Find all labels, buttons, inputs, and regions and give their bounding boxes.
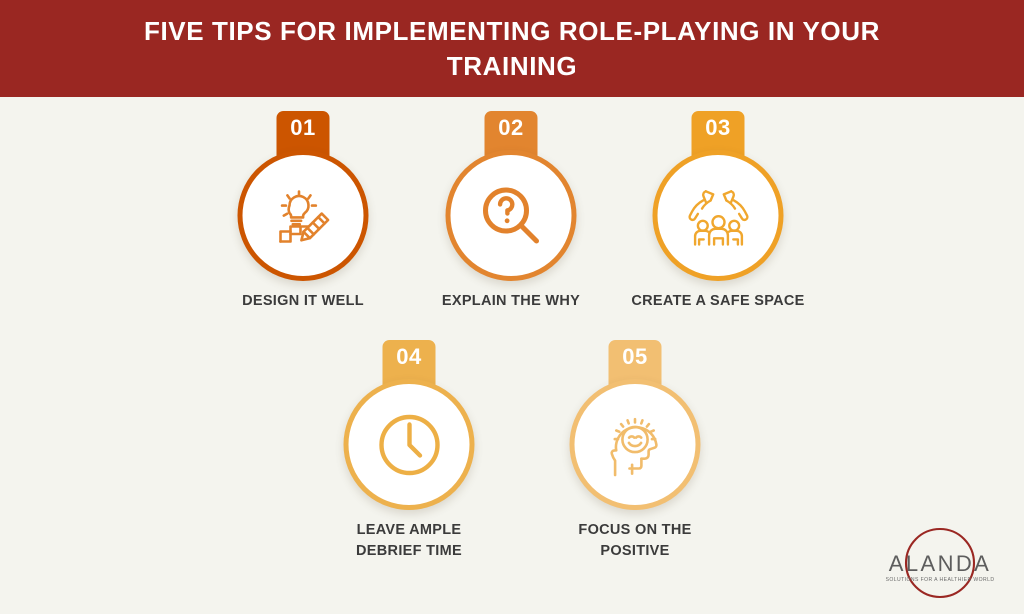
hands-protecting-people-icon	[681, 179, 755, 253]
page-title: FIVE TIPS FOR IMPLEMENTING ROLE-PLAYING …	[120, 14, 904, 83]
alanda-logo: ALANDA SOLUTIONS FOR A HEALTHIER WORLD	[884, 520, 996, 606]
tip-caption-01: DESIGN IT WELL	[242, 291, 364, 312]
tip-card-05[interactable]: 05	[535, 340, 735, 561]
badge-wrap-01: 01	[231, 111, 376, 281]
tip-caption-04: LEAVE AMPLE DEBRIEF TIME	[356, 520, 462, 561]
page-header: FIVE TIPS FOR IMPLEMENTING ROLE-PLAYING …	[0, 0, 1024, 97]
head-smiley-icon	[598, 408, 672, 482]
badge-wrap-03: 03	[646, 111, 791, 281]
tip-card-01[interactable]: 01	[203, 111, 403, 312]
icon-circle-01[interactable]	[238, 150, 369, 281]
badge-wrap-05: 05	[563, 340, 708, 510]
clock-icon	[372, 408, 446, 482]
icon-circle-05[interactable]	[570, 379, 701, 510]
icon-circle-02[interactable]	[446, 150, 577, 281]
tips-canvas: 01	[0, 97, 1024, 614]
tip-caption-02: EXPLAIN THE WHY	[442, 291, 580, 312]
tip-card-03[interactable]: 03	[618, 111, 818, 312]
tip-card-04[interactable]: 04 LEAVE AMPLE DEBRIEF TIME	[309, 340, 509, 561]
icon-circle-04[interactable]	[344, 379, 475, 510]
tip-caption-03: CREATE A SAFE SPACE	[631, 291, 804, 312]
logo-tagline: SOLUTIONS FOR A HEALTHIER WORLD	[886, 577, 995, 583]
icon-circle-03[interactable]	[653, 150, 784, 281]
badge-wrap-02: 02	[439, 111, 584, 281]
tip-card-02[interactable]: 02 EXPLAIN THE WHY	[411, 111, 611, 312]
badge-wrap-04: 04	[337, 340, 482, 510]
logo-wordmark: ALANDA	[889, 551, 991, 576]
magnifier-question-icon	[474, 179, 548, 253]
lightbulb-pencil-icon	[266, 179, 340, 253]
tip-caption-05: FOCUS ON THE POSITIVE	[578, 520, 691, 561]
